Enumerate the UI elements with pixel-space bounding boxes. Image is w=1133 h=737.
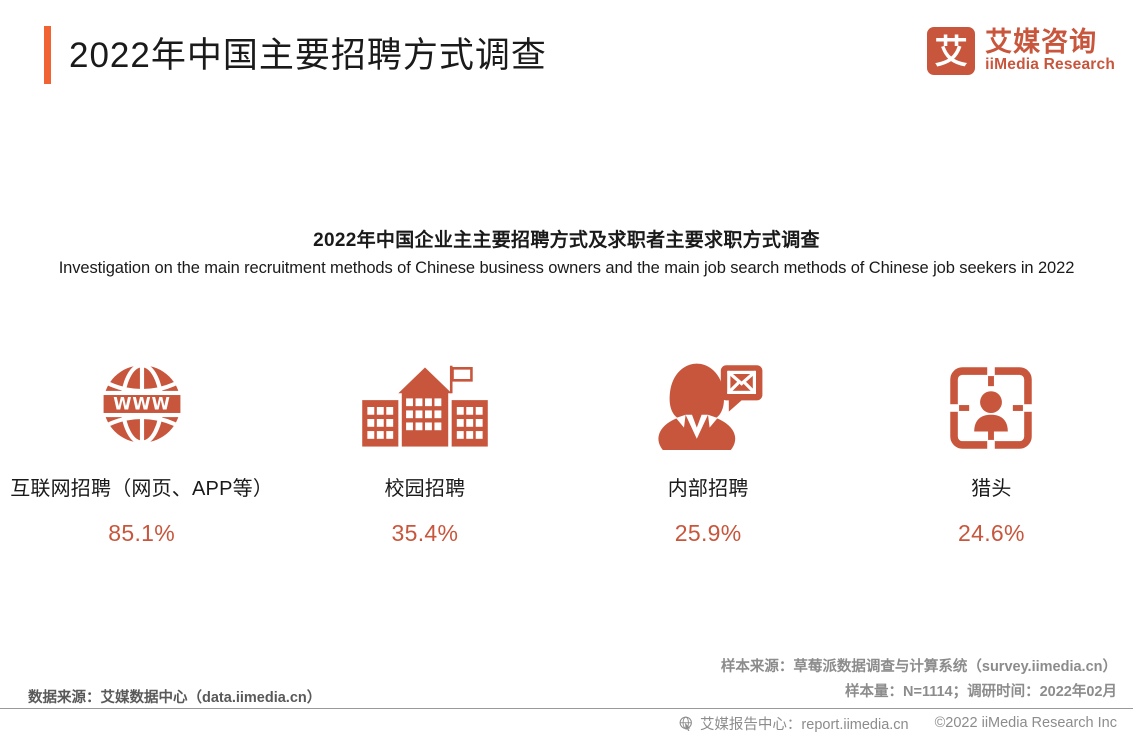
footer-bar: 艾媒报告中心：report.iimedia.cn ©2022 iiMedia R… [0, 709, 1133, 737]
logo-name-cn: 艾媒咨询 [985, 28, 1115, 56]
logo-mark-icon: 艾 [927, 27, 975, 75]
item-value: 85.1% [108, 520, 175, 547]
item-label: 校园招聘 [384, 472, 465, 501]
chart-subtitle: Investigation on the main recruitment me… [0, 259, 1133, 278]
report-center-text: 艾媒报告中心：report.iimedia.cn [700, 713, 909, 734]
globe-cursor-icon [679, 716, 694, 731]
list-item: 校园招聘 35.4% [283, 352, 566, 547]
brand-logo: 艾 艾媒咨询 iiMedia Research [927, 27, 1115, 75]
title-accent-bar [44, 26, 51, 84]
headhunter-target-icon [949, 366, 1033, 450]
globe-www-icon: WWW [96, 358, 188, 450]
businesswoman-message-icon [652, 362, 764, 450]
svg-text:WWW: WWW [113, 395, 171, 414]
chart-title: 2022年中国企业主主要招聘方式及求职者主要求职方式调查 [0, 225, 1133, 252]
item-label: 互联网招聘（网页、APP等） [10, 472, 273, 501]
icon-container [652, 352, 764, 450]
item-value: 35.4% [392, 520, 459, 547]
logo-text: 艾媒咨询 iiMedia Research [985, 28, 1115, 74]
school-building-icon [360, 364, 490, 450]
item-label: 猎头 [971, 472, 1011, 501]
icon-container [360, 352, 490, 450]
item-value: 25.9% [675, 520, 742, 547]
page-title: 2022年中国主要招聘方式调查 [69, 38, 547, 73]
sample-info: 样本来源：草莓派数据调查与计算系统（survey.iimedia.cn） 样本量… [721, 655, 1117, 705]
page-title-wrap: 2022年中国主要招聘方式调查 [44, 26, 547, 84]
item-value: 24.6% [958, 520, 1025, 547]
icon-container [949, 352, 1033, 450]
sample-source-text: 样本来源：草莓派数据调查与计算系统（survey.iimedia.cn） [721, 655, 1117, 680]
logo-mark-glyph: 艾 [935, 35, 968, 68]
sample-size-text: 样本量：N=1114；调研时间：2022年02月 [721, 680, 1117, 705]
icon-container: WWW [96, 352, 188, 450]
item-label: 内部招聘 [668, 472, 749, 501]
list-item: WWW 互联网招聘（网页、APP等） 85.1% [0, 352, 283, 547]
page-header: 2022年中国主要招聘方式调查 艾 艾媒咨询 iiMedia Research [0, 0, 1133, 110]
copyright-text: ©2022 iiMedia Research Inc [935, 715, 1117, 731]
data-source-text: 数据来源：艾媒数据中心（data.iimedia.cn） [28, 686, 321, 707]
list-item: 内部招聘 25.9% [567, 352, 850, 547]
recruitment-method-list: WWW 互联网招聘（网页、APP等） 85.1% [0, 352, 1133, 547]
logo-name-en: iiMedia Research [985, 56, 1115, 74]
list-item: 猎头 24.6% [850, 352, 1133, 547]
